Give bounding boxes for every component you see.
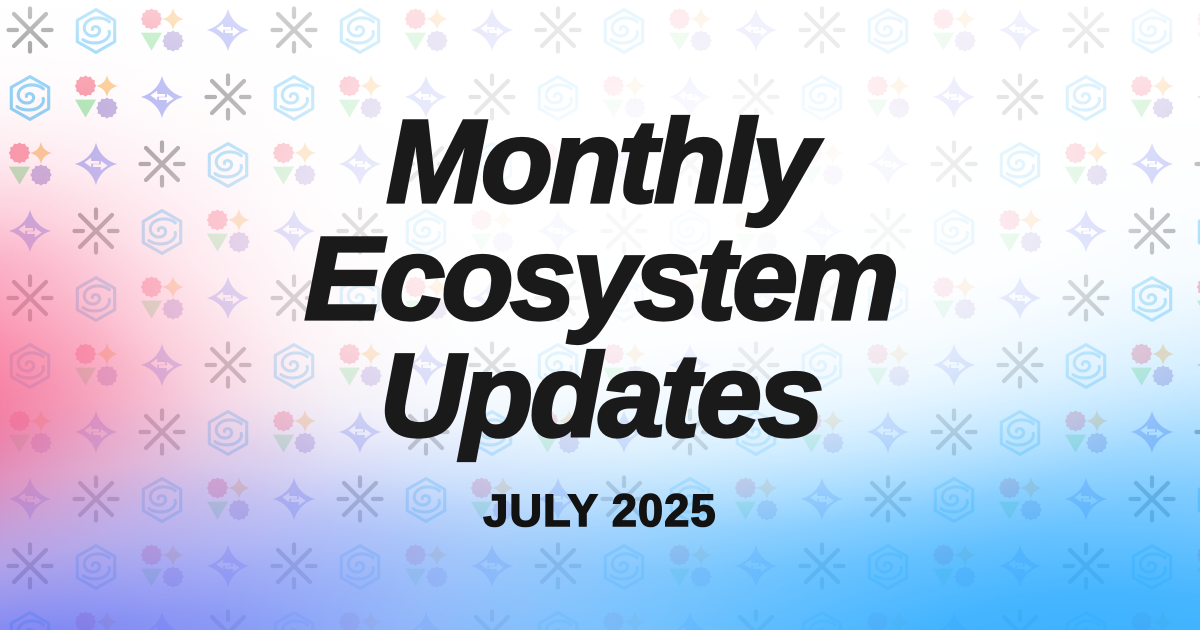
banner-subtitle: JULY 2025	[0, 488, 1200, 533]
banner-text-block: Monthly Ecosystem Updates JULY 2025	[0, 0, 1200, 630]
title-line-3: Updates	[0, 338, 1200, 455]
banner-card: Monthly Ecosystem Updates JULY 2025	[0, 0, 1200, 630]
title-line-1: Monthly	[0, 104, 1200, 221]
title-line-2: Ecosystem	[0, 221, 1200, 338]
banner-title: Monthly Ecosystem Updates	[0, 104, 1200, 454]
